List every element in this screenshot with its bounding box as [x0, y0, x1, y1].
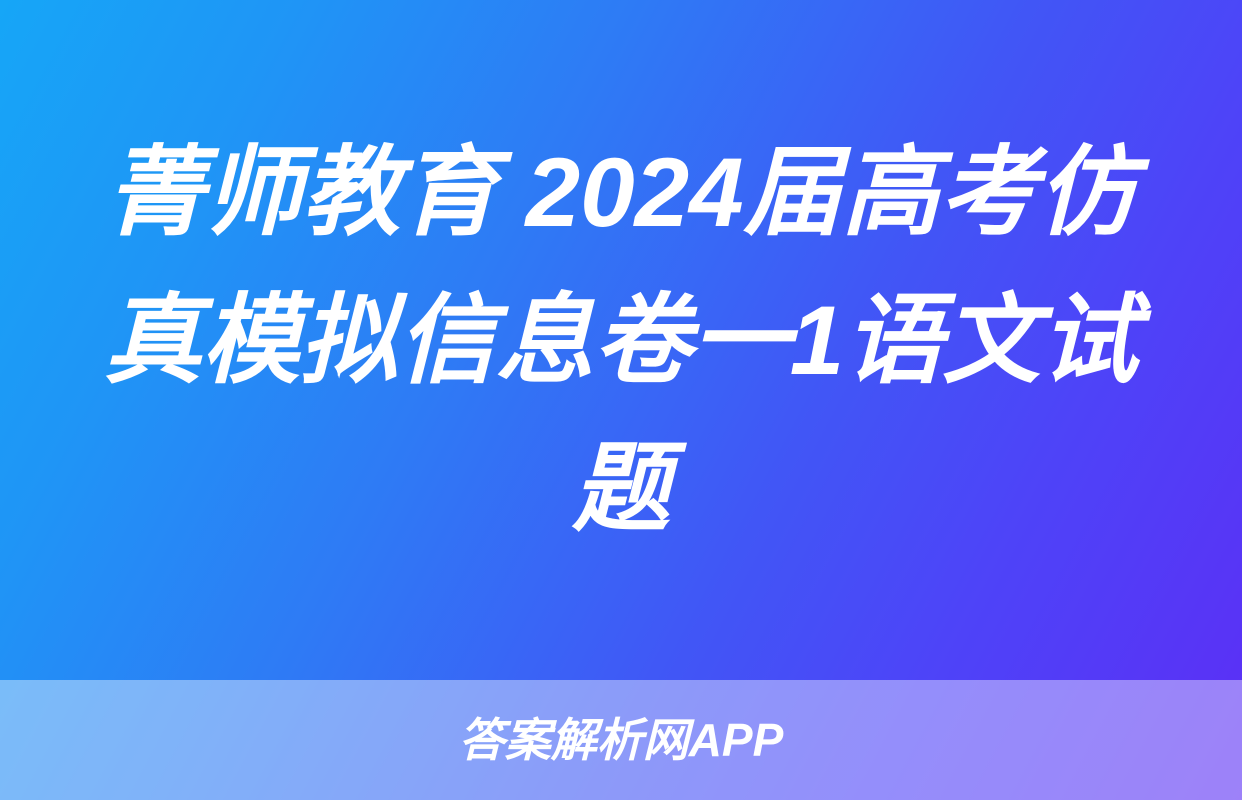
watermark-band: 答案解析网APP [0, 680, 1242, 800]
watermark-text: 答案解析网APP [459, 715, 784, 765]
poster-canvas: 菁师教育 2024届高考仿真模拟信息卷一1语文试题 答案解析网APP [0, 0, 1242, 800]
page-title: 菁师教育 2024届高考仿真模拟信息卷一1语文试题 [81, 118, 1161, 562]
headline-area: 菁师教育 2024届高考仿真模拟信息卷一1语文试题 [0, 0, 1242, 680]
